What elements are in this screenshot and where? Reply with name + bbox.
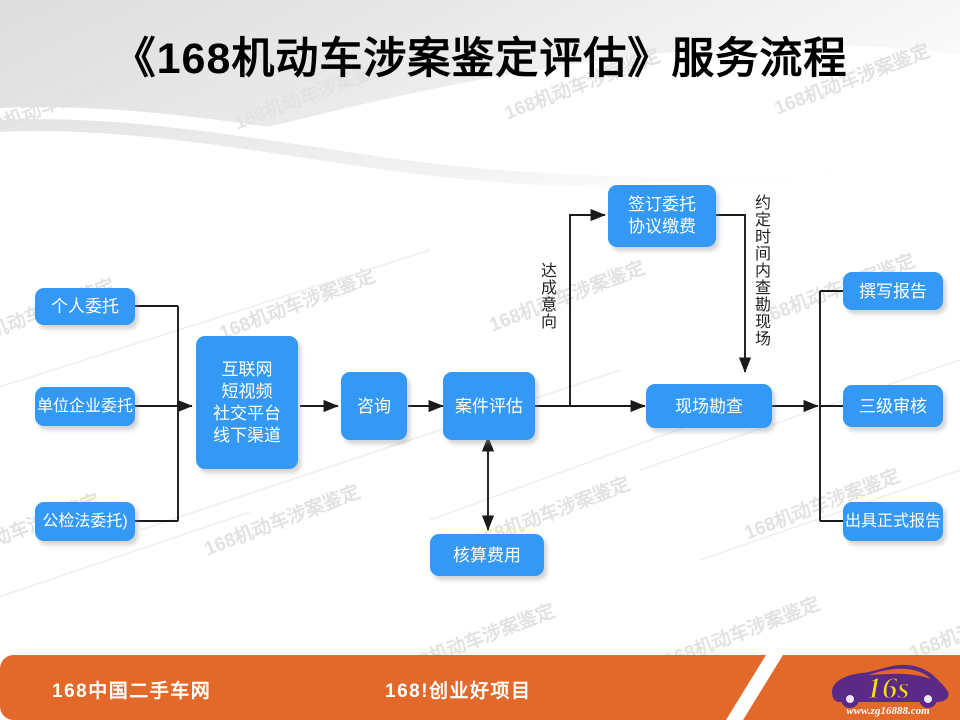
logo-url-text: www.zg16888.com (846, 705, 930, 717)
logo-mark-text: 16s (866, 670, 909, 705)
node-label: 撰写报告 (859, 281, 927, 302)
node-cost-accounting[interactable]: 核算费用 (430, 534, 544, 576)
node-label-line: 短视频 (222, 381, 273, 403)
edge-label-schedule: 约定时间内查勘现场 (752, 194, 769, 347)
page-title: 《168机动车涉案鉴定评估》服务流程 (0, 24, 960, 86)
slide-canvas: 168机动车涉案鉴定 168机动车涉案鉴定 168机动车涉案鉴定 168机动车涉… (0, 0, 960, 720)
flow-nodes: 个人委托 单位企业委托 公检法委托) 互联网 短视频 社交平台 线下渠道 咨询 … (0, 0, 960, 640)
node-consultation[interactable]: 咨询 (341, 372, 407, 440)
node-label: 出具正式报告 (845, 511, 941, 532)
node-case-evaluation[interactable]: 案件评估 (443, 372, 535, 440)
node-acquisition-channels[interactable]: 互联网 短视频 社交平台 线下渠道 (196, 336, 298, 469)
node-personal-entrust[interactable]: 个人委托 (35, 288, 135, 325)
footer-bar: 168中国二手车网 168!创业好项目 16s www.zg16888.com (0, 655, 960, 720)
node-label-line: 互联网 (222, 359, 273, 381)
node-write-report[interactable]: 撰写报告 (843, 272, 943, 310)
footer-left-text: 168中国二手车网 (52, 676, 211, 703)
node-judicial-entrust[interactable]: 公检法委托) (35, 502, 135, 541)
node-label: 三级审核 (859, 396, 927, 417)
node-label-line: 线下渠道 (213, 425, 281, 447)
node-label-line: 协议缴费 (628, 216, 696, 238)
node-label: 现场勘查 (675, 396, 743, 417)
node-sign-agreement-payment[interactable]: 签订委托 协议缴费 (608, 185, 716, 247)
node-company-entrust[interactable]: 单位企业委托 (35, 387, 135, 426)
edge-label-intent: 达成意向 (538, 262, 555, 330)
node-label: 公检法委托) (42, 511, 127, 532)
node-label: 核算费用 (453, 545, 521, 566)
node-label: 单位企业委托 (37, 396, 133, 417)
node-three-level-review[interactable]: 三级审核 (843, 385, 943, 427)
node-label-line: 社交平台 (213, 403, 281, 425)
node-formal-report[interactable]: 出具正式报告 (843, 502, 943, 541)
node-label: 个人委托 (51, 296, 119, 317)
node-label-line: 签订委托 (628, 194, 696, 216)
node-site-survey[interactable]: 现场勘查 (646, 384, 772, 428)
company-logo[interactable]: 16s www.zg16888.com (824, 658, 952, 718)
footer-center-text: 168!创业好项目 (385, 676, 532, 703)
node-label: 案件评估 (455, 396, 523, 417)
node-label: 咨询 (357, 396, 391, 417)
